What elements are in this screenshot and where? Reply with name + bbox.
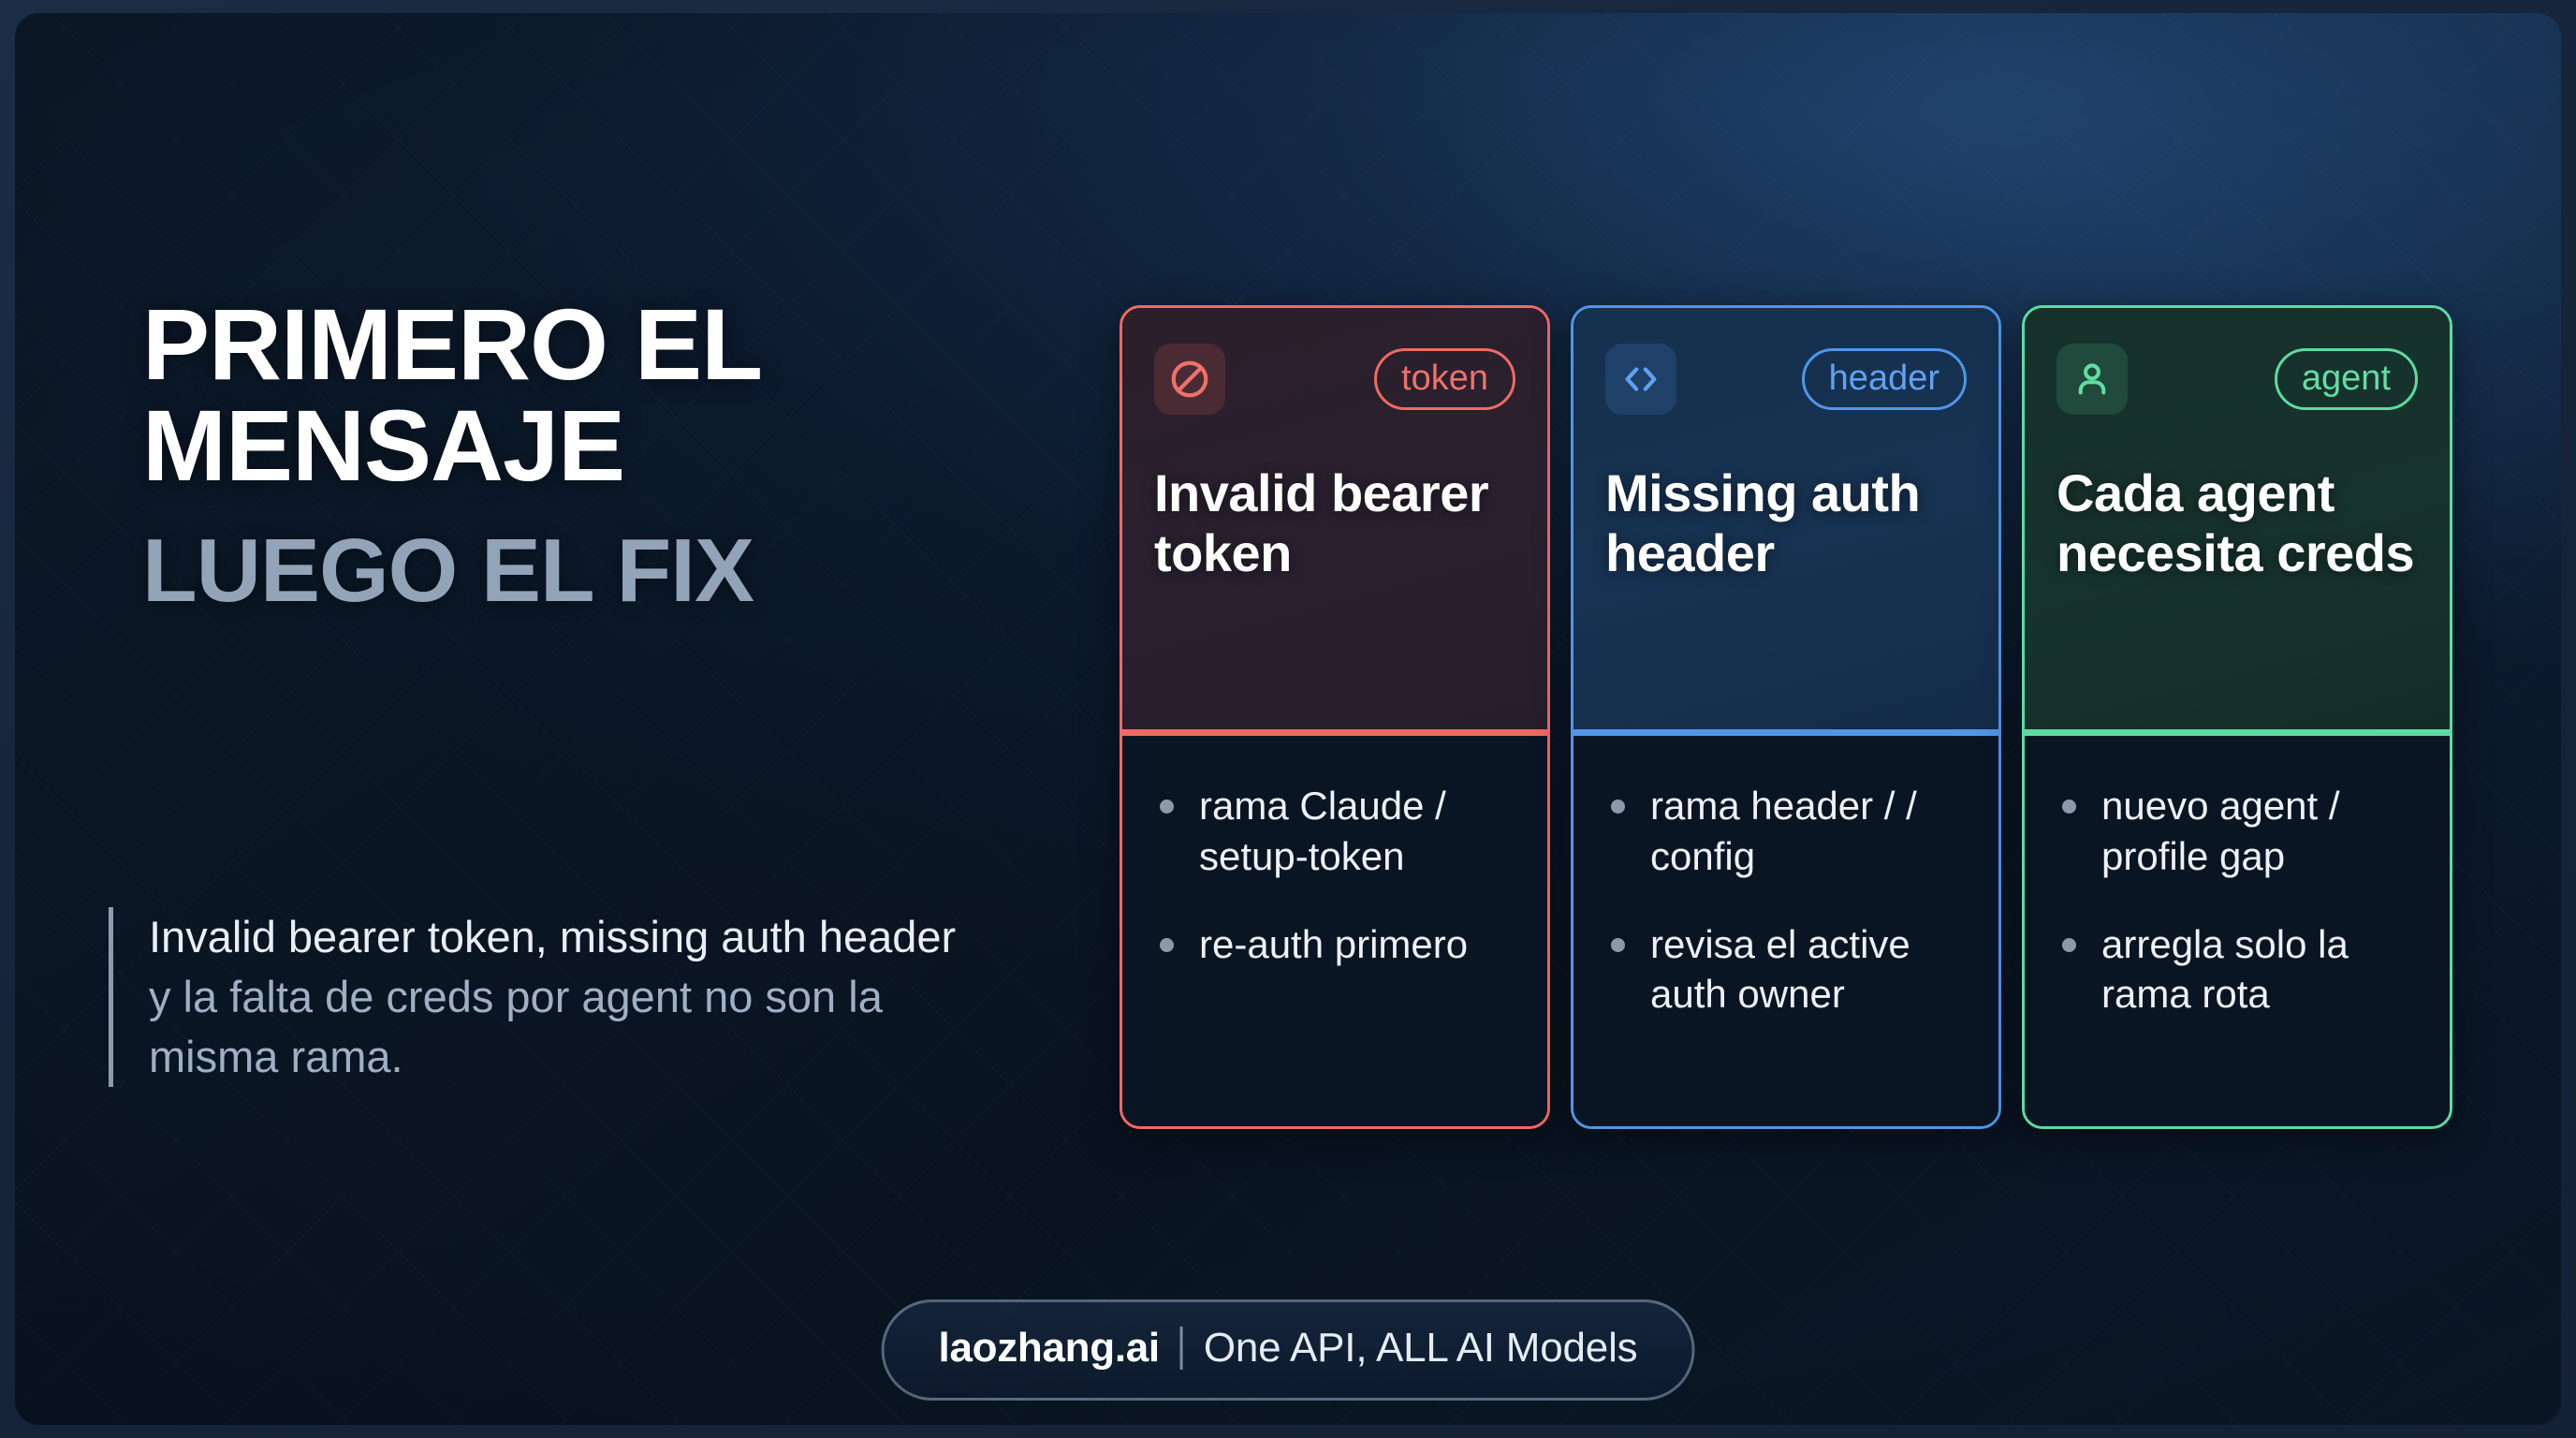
slide-frame: PRIMERO EL MENSAJE LUEGO EL FIX Invalid … <box>0 0 2576 1438</box>
person-icon <box>2056 344 2128 415</box>
headline-subline: LUEGO EL FIX <box>142 526 1097 616</box>
list-item: arregla solo la rama rota <box>2056 919 2418 1020</box>
code-brackets-icon <box>1605 344 1676 415</box>
card-invalid-bearer-token[interactable]: token Invalid bearer token rama Claude /… <box>1120 305 1550 1129</box>
card-header-row: agent <box>2056 344 2418 415</box>
status-badge: token <box>1374 348 1515 410</box>
footer-brand-badge: laozhang.ai One API, ALL AI Models <box>882 1299 1695 1401</box>
list-item: nuevo agent / profile gap <box>2056 781 2418 882</box>
card-bullet-list: rama header / / config revisa el active … <box>1605 781 1967 1020</box>
page-title: PRIMERO EL MENSAJE LUEGO EL FIX <box>142 294 1097 616</box>
card-bullet-list: rama Claude / setup-token re-auth primer… <box>1154 781 1515 969</box>
brand-separator <box>1180 1327 1183 1370</box>
lede-strong: Invalid bearer token, missing auth heade… <box>149 912 956 961</box>
brand-tagline: One API, ALL AI Models <box>1204 1325 1638 1372</box>
lede-rest: y la falta de creds por agent no son la … <box>149 972 883 1081</box>
card-divider <box>1573 729 1998 736</box>
slide-content: PRIMERO EL MENSAJE LUEGO EL FIX Invalid … <box>15 13 2561 1425</box>
card-body: rama header / / config revisa el active … <box>1573 736 1998 1126</box>
list-item: rama header / / config <box>1605 781 1967 882</box>
card-agent-creds[interactable]: agent Cada agent necesita creds nuevo ag… <box>2022 305 2452 1129</box>
headline-line-2: MENSAJE <box>142 395 1097 496</box>
card-divider <box>2025 729 2450 736</box>
list-item: rama Claude / setup-token <box>1154 781 1515 882</box>
brand-name: laozhang.ai <box>939 1325 1160 1372</box>
card-header: header Missing auth header <box>1573 308 1998 729</box>
card-header-row: token <box>1154 344 1515 415</box>
status-badge: agent <box>2275 348 2418 410</box>
headline-line-1: PRIMERO EL <box>142 294 1097 395</box>
card-title: Invalid bearer token <box>1154 463 1515 583</box>
card-body: nuevo agent / profile gap arregla solo l… <box>2025 736 2450 1126</box>
card-header: agent Cada agent necesita creds <box>2025 308 2450 729</box>
card-title: Missing auth header <box>1605 463 1967 583</box>
card-body: rama Claude / setup-token re-auth primer… <box>1122 736 1547 1126</box>
status-badge: header <box>1802 348 1967 410</box>
card-title: Cada agent necesita creds <box>2056 463 2418 583</box>
card-missing-auth-header[interactable]: header Missing auth header rama header /… <box>1571 305 2001 1129</box>
ban-icon <box>1154 344 1225 415</box>
slide-stage: PRIMERO EL MENSAJE LUEGO EL FIX Invalid … <box>15 13 2561 1425</box>
card-group: token Invalid bearer token rama Claude /… <box>1120 305 2495 1129</box>
lede-text: Invalid bearer token, missing auth heade… <box>149 907 970 1087</box>
card-divider <box>1122 729 1547 736</box>
card-bullet-list: nuevo agent / profile gap arregla solo l… <box>2056 781 2418 1020</box>
list-item: re-auth primero <box>1154 919 1515 970</box>
lede-block: Invalid bearer token, missing auth heade… <box>109 907 970 1087</box>
card-header: token Invalid bearer token <box>1122 308 1547 729</box>
list-item: revisa el active auth owner <box>1605 919 1967 1020</box>
card-header-row: header <box>1605 344 1967 415</box>
headline-block: PRIMERO EL MENSAJE LUEGO EL FIX <box>142 294 1097 616</box>
